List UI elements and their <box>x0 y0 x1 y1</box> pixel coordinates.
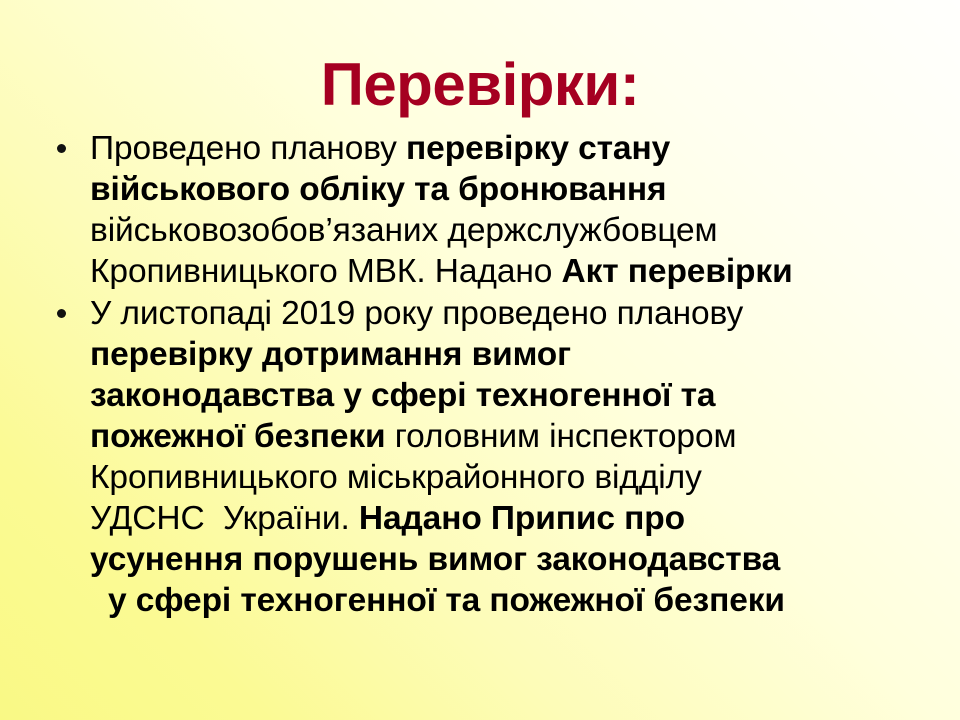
bullet-point-icon <box>57 144 66 153</box>
text-emphasis: військового обліку та бронювання <box>90 171 666 208</box>
text-emphasis: у сфері техногенної та пожежної безпеки <box>108 582 785 619</box>
text-line: УДСНС України. Надано Припис про <box>90 498 922 539</box>
text-line: усунення порушень вимог законодавства <box>90 539 922 580</box>
text-line: пожежної безпеки головним інспектором <box>90 416 922 457</box>
text-line: Проведено планову перевірку стану <box>90 128 922 169</box>
page-title: Перевірки: <box>0 55 960 115</box>
text-run: У листопаді 2019 року проведено планову <box>90 295 743 332</box>
text-run: військовозобов’язаних держслужбовцем <box>90 212 718 249</box>
text-line: перевірку дотримання вимог <box>90 334 922 375</box>
text-run: Проведено планову <box>90 130 406 167</box>
text-emphasis: перевірку стану <box>406 130 670 167</box>
text-line: Кропивницького МВК. Надано Акт перевірки <box>90 251 922 292</box>
text-run: Кропивницького міськрайонного відділу <box>90 459 702 496</box>
text-emphasis: усунення порушень вимог законодавства <box>90 541 780 578</box>
text-line: військовозобов’язаних держслужбовцем <box>90 210 922 251</box>
text-emphasis: Акт перевірки <box>562 253 793 290</box>
text-emphasis: Надано Припис про <box>359 500 685 537</box>
text-emphasis: пожежної безпеки <box>90 418 386 455</box>
text-run: УДСНС України. <box>90 500 359 537</box>
list-item: Проведено планову перевірку станувійсько… <box>42 128 922 292</box>
text-line: У листопаді 2019 року проведено планову <box>90 293 922 334</box>
bullet-point-icon <box>57 309 66 318</box>
text-line: у сфері техногенної та пожежної безпеки <box>90 580 922 621</box>
bullet-list: Проведено планову перевірку станувійсько… <box>42 128 922 621</box>
text-run: Кропивницького МВК. Надано <box>90 253 562 290</box>
text-emphasis: перевірку дотримання вимог <box>90 336 571 373</box>
text-line: військового обліку та бронювання <box>90 169 922 210</box>
list-item: У листопаді 2019 року проведено плановуп… <box>42 293 922 621</box>
text-run: головним інспектором <box>386 418 737 455</box>
text-line: Кропивницького міськрайонного відділу <box>90 457 922 498</box>
text-emphasis: законодавства у сфері техногенної та <box>90 377 715 414</box>
slide-canvas: Перевірки: Проведено планову перевірку с… <box>0 0 960 720</box>
text-line: законодавства у сфері техногенної та <box>90 375 922 416</box>
